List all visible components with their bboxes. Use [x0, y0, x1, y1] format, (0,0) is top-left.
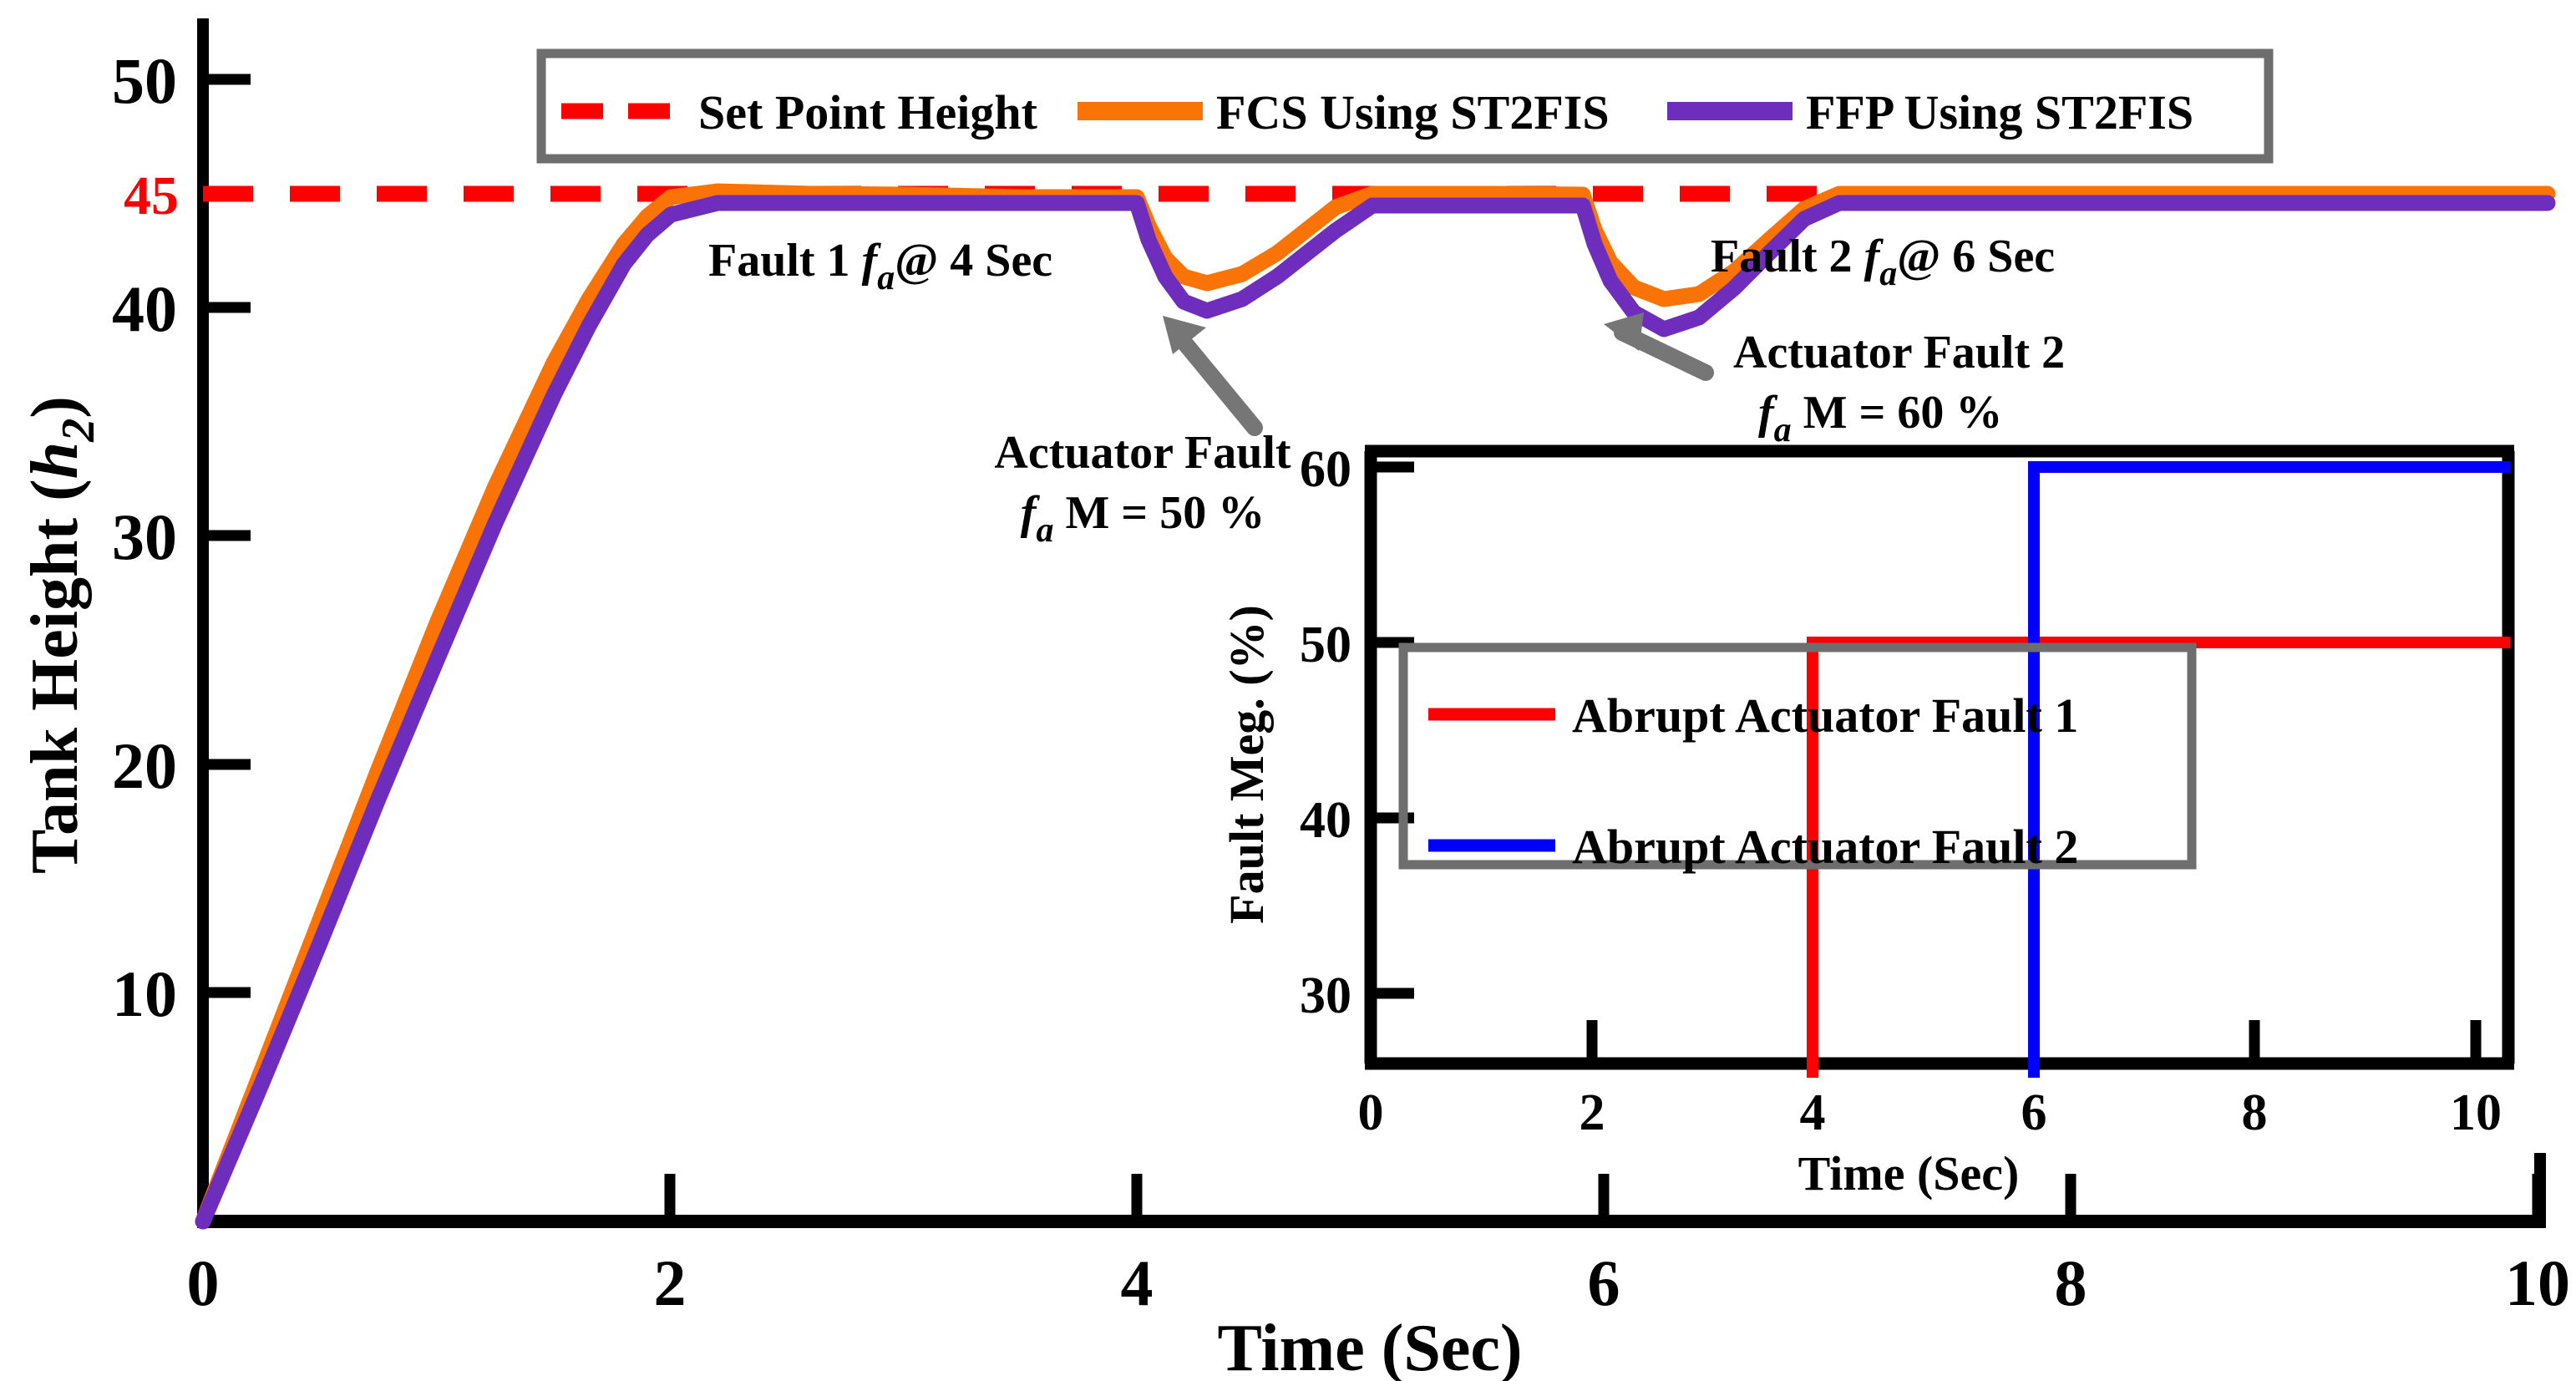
- main-xtick-label-10: 10: [2505, 1246, 2570, 1319]
- main-xtick-label-2: 2: [654, 1246, 687, 1319]
- figure-container: 10 20 30 40 50 45 0 2 4 6 8 10 Time (Sec…: [0, 0, 2576, 1381]
- main-ytick-label-50: 50: [112, 44, 177, 117]
- main-yaxis-title-symbol: h: [18, 442, 92, 480]
- inset-xaxis-title: Time (Sec): [1798, 1146, 2020, 1201]
- main-y-ticks: [203, 79, 251, 993]
- actuator-fault-1-label-line1: Actuator Fault: [994, 427, 1291, 479]
- inset-xtick-label-6: 6: [2021, 1084, 2047, 1141]
- main-yaxis-title: Tank Height (h2): [18, 396, 104, 874]
- main-xtick-label-6: 6: [1588, 1246, 1620, 1319]
- inset-xtick-label-0: 0: [1358, 1084, 1384, 1141]
- inset-legend-label-abrupt-actuator-fault-2: Abrupt Actuator Fault 2: [1572, 820, 2078, 874]
- fault-2-label: Fault 2 fa@ 6 Sec: [1711, 231, 2055, 293]
- main-legend[interactable]: Set Point Height FCS Using ST2FIS FFP Us…: [541, 53, 2269, 159]
- inset-x-ticks: [1371, 1020, 2476, 1064]
- fault-1-label: Fault 1 fa@ 4 Sec: [708, 235, 1052, 297]
- inset-xtick-label-10: 10: [2450, 1084, 2502, 1141]
- inset-xtick-label-4: 4: [1800, 1084, 1826, 1141]
- svg-text:Tank Height (h2): Tank Height (h2): [18, 396, 104, 874]
- inset-ytick-label-50: 50: [1300, 617, 1351, 673]
- chart-svg: 10 20 30 40 50 45 0 2 4 6 8 10 Time (Sec…: [0, 0, 2576, 1381]
- main-setpoint-tick-label: 45: [124, 165, 179, 226]
- actuator-fault-1-label-line2: fa M = 50 %: [1021, 487, 1265, 550]
- svg-text:Fault Meg. (%): Fault Meg. (%): [1220, 605, 1274, 924]
- main-ytick-label-40: 40: [112, 272, 177, 345]
- actuator-fault-2-label-line1: Actuator Fault 2: [1733, 327, 2065, 378]
- main-ytick-label-30: 30: [112, 500, 177, 573]
- main-xaxis-title: Time (Sec): [1217, 1312, 1522, 1381]
- inset-ytick-label-30: 30: [1300, 967, 1351, 1024]
- main-ytick-label-10: 10: [112, 957, 177, 1030]
- main-legend-label-ffp-using-st2fis: FFP Using ST2FIS: [1806, 85, 2193, 140]
- main-legend-label-fcs-using-st2fis: FCS Using ST2FIS: [1216, 85, 1610, 140]
- inset-legend[interactable]: Abrupt Actuator Fault 1 Abrupt Actuator …: [1403, 647, 2192, 874]
- inset-yaxis-title: Fault Meg. (%): [1220, 605, 1274, 924]
- inset-legend-label-abrupt-actuator-fault-1: Abrupt Actuator Fault 1: [1572, 688, 2078, 743]
- main-yaxis-title-prefix: Tank Height (: [18, 479, 92, 874]
- main-xtick-label-8: 8: [2055, 1246, 2087, 1319]
- inset-ytick-label-60: 60: [1300, 441, 1351, 498]
- main-ytick-label-20: 20: [112, 729, 177, 802]
- inset-xtick-label-2: 2: [1580, 1084, 1605, 1141]
- main-x-ticks: [203, 1174, 2538, 1221]
- arrow-to-fault-1: [1163, 316, 1255, 428]
- main-yaxis-title-sub: 2: [53, 419, 104, 443]
- actuator-fault-2-label-line2: fa M = 60 %: [1758, 387, 2002, 449]
- inset-xtick-label-8: 8: [2242, 1084, 2268, 1141]
- main-legend-label-set-point-height: Set Point Height: [698, 85, 1038, 140]
- inset-ytick-label-40: 40: [1300, 792, 1351, 849]
- main-yaxis-title-suffix: ): [18, 396, 92, 419]
- main-xtick-label-4: 4: [1121, 1246, 1154, 1319]
- main-xtick-label-0: 0: [187, 1246, 220, 1319]
